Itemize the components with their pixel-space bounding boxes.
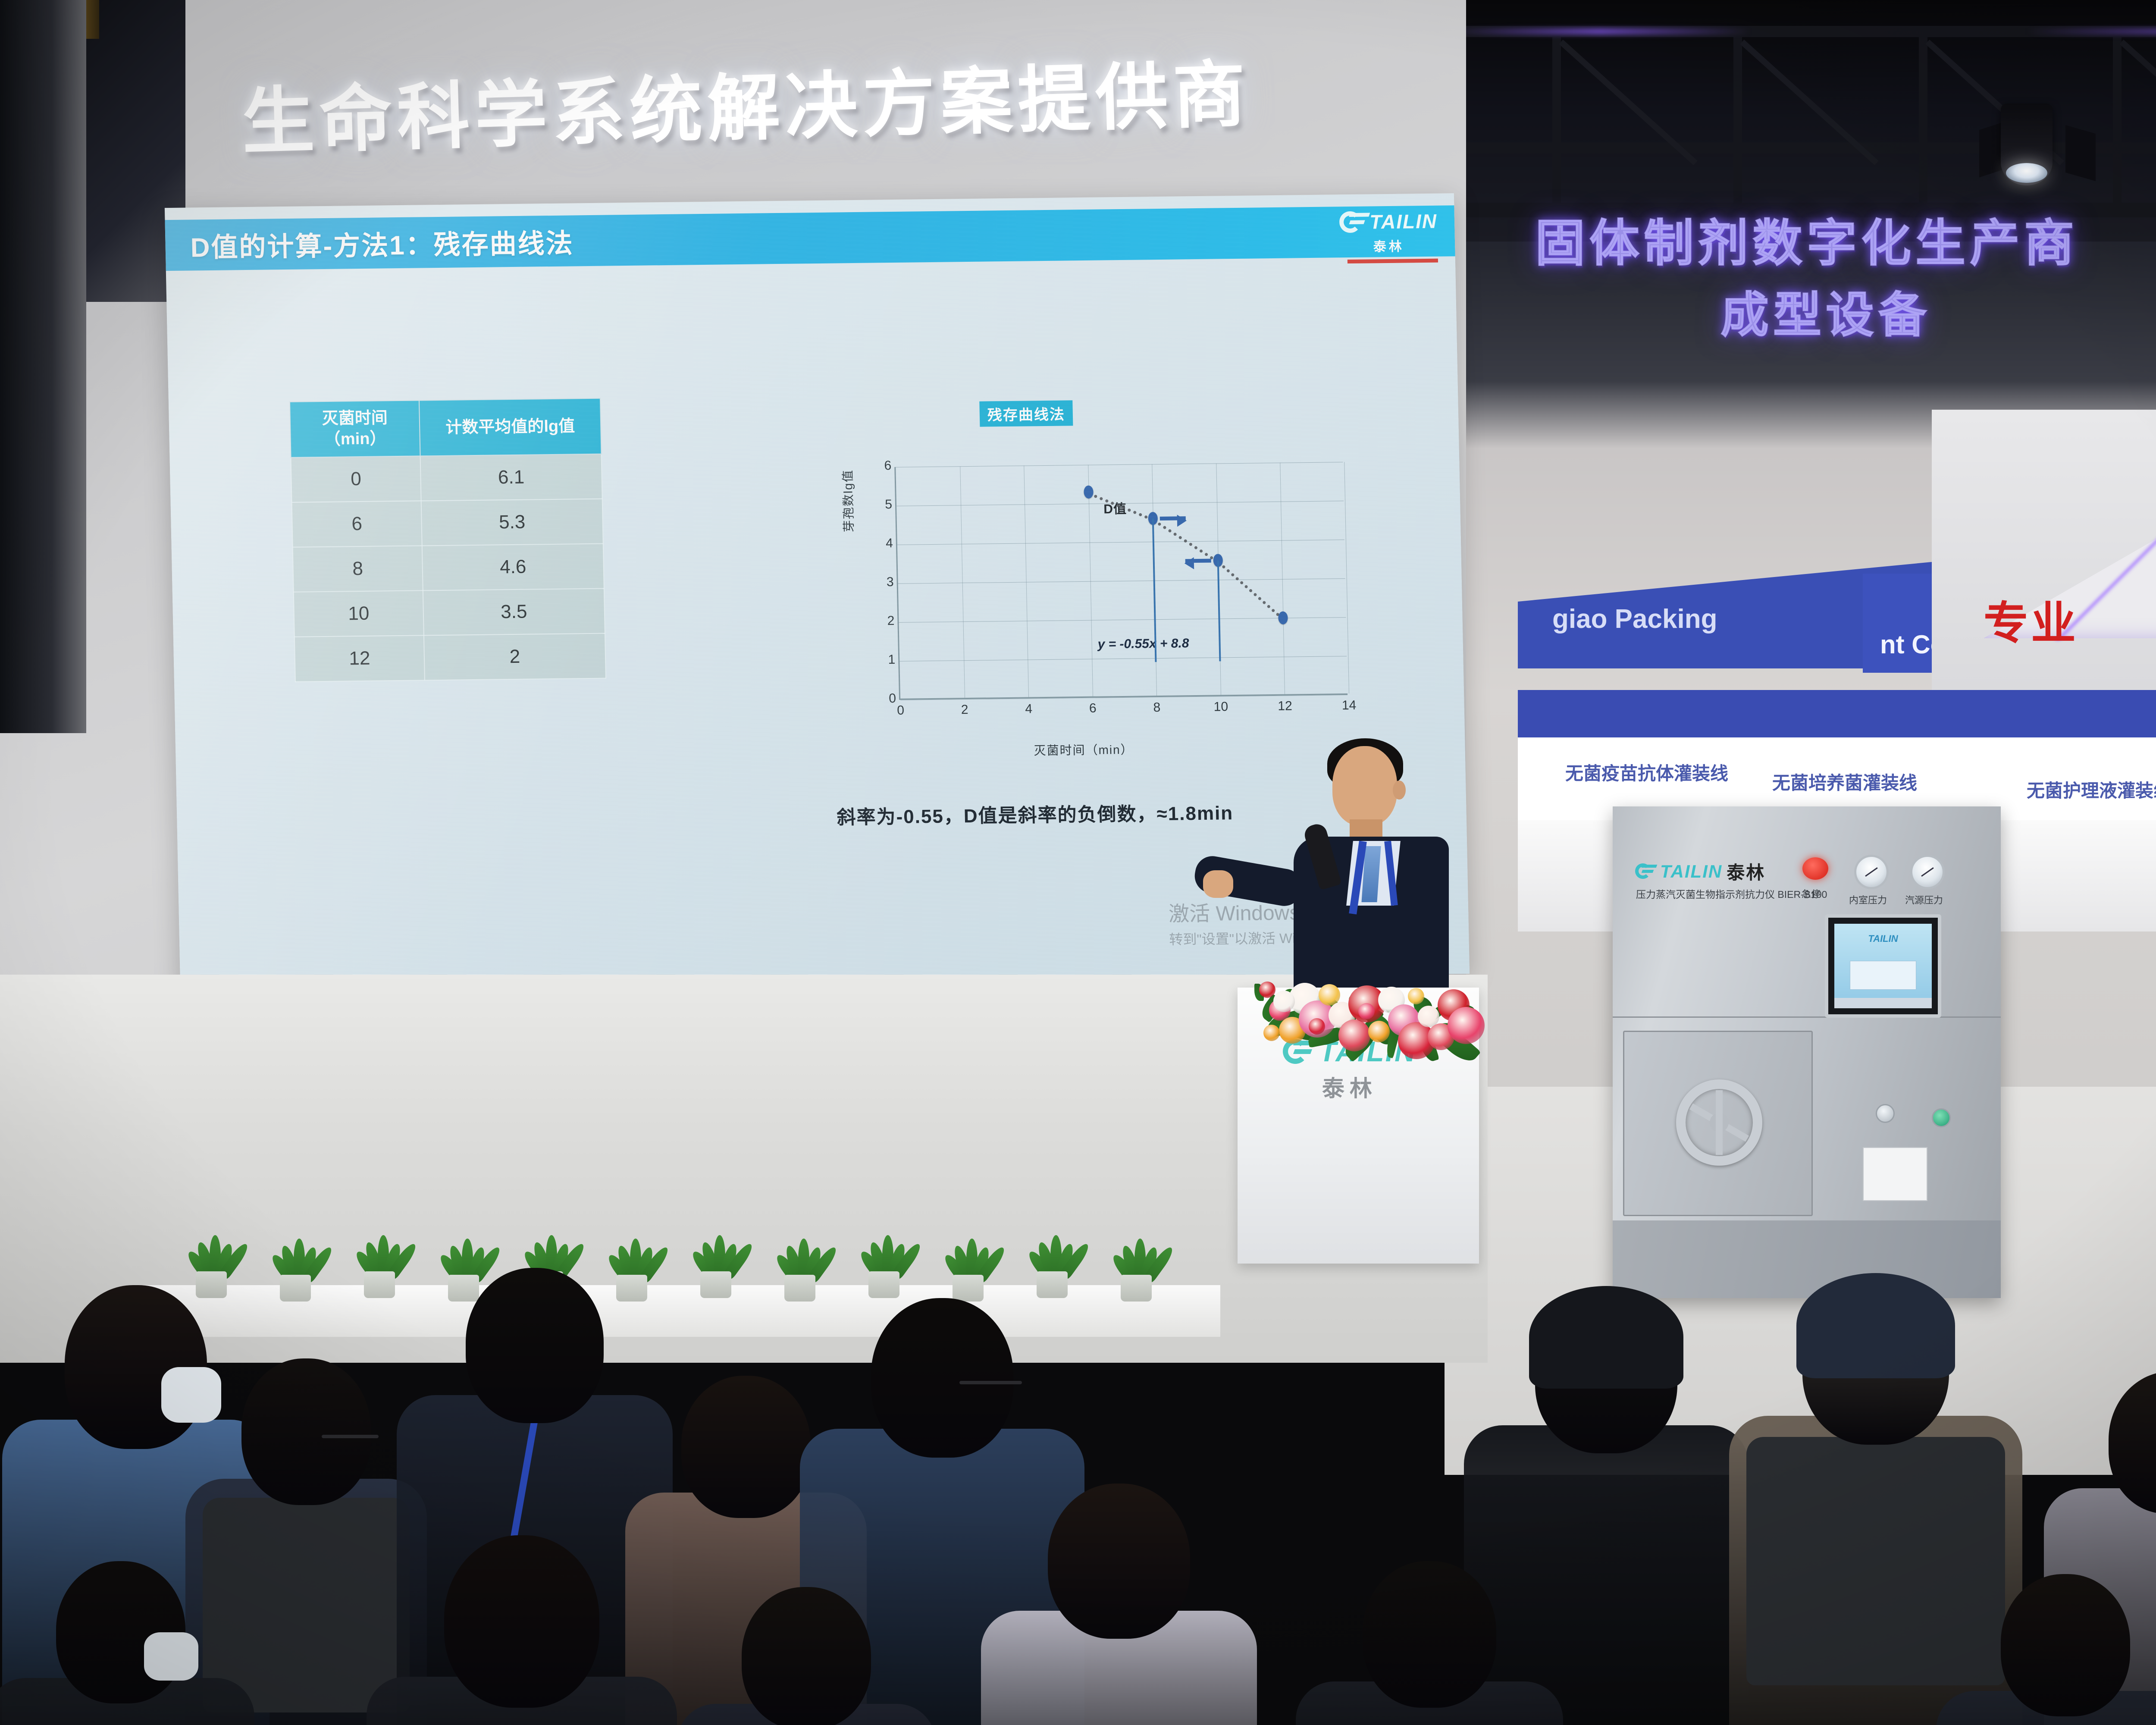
cell-lg-value: 3.5: [423, 589, 605, 636]
purple-light-glow: [1449, 28, 1751, 34]
machine-model-label: 压力蒸汽灭菌生物指示剂抗力仪 BIER-S100: [1636, 886, 1827, 901]
slide-header-bar: D值的计算-方法1：残存曲线法 TAILIN 泰林: [165, 205, 1455, 271]
machine-info-plate: [1863, 1147, 1927, 1201]
presenter-ear: [1393, 781, 1406, 800]
hmi-login-dialog[interactable]: [1850, 961, 1916, 990]
cell-lg-value: 6.1: [420, 454, 602, 501]
chart-gridline-h: [899, 656, 1347, 662]
person-head: [681, 1376, 811, 1518]
machine-brand-chinese: 泰林: [1727, 858, 1765, 884]
chart-x-tick: 10: [1213, 699, 1228, 714]
machine-control-panel: [1613, 806, 2001, 1018]
hmi-touchscreen[interactable]: TAILIN: [1825, 914, 1941, 1018]
flower-bloom: [1448, 1007, 1485, 1044]
chart-y-tick: 2: [874, 614, 895, 629]
chart-x-tick: 12: [1278, 699, 1292, 714]
table-row: 122: [295, 634, 606, 682]
plant-pot: [953, 1275, 984, 1302]
booth-label-culture-line: 无菌培养菌灌装线: [1772, 768, 1917, 795]
truss-post: [1733, 26, 1742, 207]
chart-x-tick: 2: [961, 703, 968, 717]
chart-x-tick: 6: [1089, 701, 1097, 716]
chart-y-tick: 5: [872, 497, 893, 512]
chart-gridline-v: [960, 466, 965, 698]
podium-brand-chinese: 泰林: [1322, 1070, 1377, 1103]
cell-time: 10: [294, 590, 424, 637]
truss-post: [1552, 26, 1561, 207]
potted-plant: [774, 1237, 826, 1302]
table-row: 06.1: [291, 454, 602, 502]
potted-plant: [1110, 1237, 1162, 1302]
face-mask: [161, 1367, 221, 1423]
plant-pot: [1037, 1271, 1068, 1298]
spotlight-barndoor: [2065, 125, 2096, 181]
machine-base: [1613, 1220, 2001, 1298]
slide-title: D值的计算-方法1：残存曲线法: [190, 221, 574, 264]
flower-bloom: [1338, 1019, 1370, 1051]
chart-x-tick: 4: [1025, 702, 1032, 716]
chart-gridline-v: [1344, 462, 1349, 693]
truss-post: [2113, 26, 2122, 207]
hmi-taskbar: [1834, 998, 1932, 1008]
plant-pot: [868, 1271, 899, 1298]
flower-bloom: [1263, 1025, 1280, 1041]
potted-plant: [942, 1237, 994, 1302]
person-head: [871, 1298, 1013, 1458]
red-wall-text: 专业: [1984, 586, 2078, 652]
person-head: [1363, 1561, 1496, 1708]
potted-plant: [1026, 1233, 1078, 1298]
stage-spotlight: [2001, 103, 2053, 185]
tailin-swirl-icon: [1339, 209, 1366, 236]
d-value-arrow-right: [1160, 516, 1186, 521]
person-torso: [1464, 1425, 1749, 1725]
hmi-screen-content: TAILIN: [1834, 924, 1932, 1008]
col-header-time-line2: （min）: [295, 428, 415, 450]
person-head: [1048, 1483, 1190, 1639]
cell-lg-value: 5.3: [421, 499, 603, 546]
emergency-stop-button[interactable]: [1802, 857, 1828, 880]
chart-plot-area: D值 y = -0.55x + 8.8 012345602468101214: [894, 462, 1347, 700]
chart-x-tick: 0: [897, 703, 904, 718]
potted-plant: [606, 1237, 658, 1302]
chart-data-point: [1084, 486, 1094, 499]
machine-brand-logo: TAILIN 泰林: [1635, 858, 1765, 884]
flower-arrangement: [1246, 940, 1470, 1052]
table-header-row: 灭菌时间 （min） 计数平均值的lg值: [290, 398, 602, 458]
right-sign-line-1: 固体制剂数字化生产商: [1535, 203, 2078, 275]
backpack: [1746, 1437, 2005, 1685]
slide-note-text: 斜率为-0.55，D值是斜率的负倒数，≈1.8min: [837, 797, 1234, 829]
baseball-cap: [1529, 1286, 1683, 1389]
cell-lg-value: 4.6: [422, 544, 604, 591]
booth-wall-blue-top: [1518, 690, 2156, 737]
chamber-pressure-gauge: [1854, 855, 1889, 889]
chart-trendline-segment: [1217, 561, 1284, 621]
backpack: [203, 1498, 410, 1712]
baseball-cap: [1796, 1273, 1955, 1378]
spotlight-lens: [2006, 163, 2047, 183]
chart-x-tick: 8: [1153, 700, 1160, 715]
blue-banner-text: giao Packing: [1552, 604, 1717, 634]
truss-post: [1919, 26, 1927, 207]
chart-x-axis-label: 灭菌时间（min）: [1034, 740, 1134, 759]
presenter-head: [1332, 746, 1397, 826]
d-value-arrow-left: [1185, 559, 1211, 563]
potted-plant: [690, 1233, 742, 1298]
chart-gridline-h: [898, 578, 1345, 584]
machine-button-light[interactable]: [1876, 1104, 1895, 1123]
cell-time: 12: [295, 635, 425, 681]
potted-plant: [858, 1233, 910, 1298]
chart-drop-line: [1217, 560, 1221, 661]
cell-time: 6: [292, 501, 422, 547]
machine-button-start[interactable]: [1932, 1108, 1951, 1127]
table-row: 103.5: [294, 589, 605, 637]
chart-gridline-v: [1024, 466, 1029, 697]
face-mask: [144, 1632, 198, 1681]
flower-bloom: [1368, 1021, 1390, 1042]
col-header-lg: 计数平均值的lg值: [419, 398, 602, 456]
cell-time: 0: [291, 456, 421, 502]
left-edge-shadow: [0, 0, 86, 733]
potted-plant: [438, 1237, 489, 1302]
person-head: [241, 1358, 371, 1505]
plant-pot: [280, 1275, 311, 1302]
machine-brand-latin: TAILIN: [1660, 861, 1722, 882]
steam-pressure-label: 汽源压力: [1905, 893, 1943, 906]
brand-latin-text: TAILIN: [1369, 210, 1438, 234]
plant-pot: [1121, 1275, 1152, 1302]
plant-pot: [700, 1271, 731, 1298]
person-head: [2001, 1574, 2130, 1716]
booth-label-care-liquid-line: 无菌护理液灌装线: [2027, 776, 2156, 803]
emergency-stop-label: 急停: [1802, 887, 1821, 900]
chart-y-tick: 3: [874, 575, 894, 590]
chart-gridline-h: [897, 539, 1344, 545]
brand-chinese-text: 泰林: [1373, 236, 1404, 255]
plant-pot: [784, 1275, 815, 1302]
eyeglasses: [959, 1381, 1022, 1384]
right-sign-line-2: 成型设备: [1720, 276, 1931, 346]
table-body: 06.165.384.6103.5122: [291, 454, 606, 682]
presenter-hand: [1203, 870, 1233, 898]
flower-bloom: [1309, 1018, 1325, 1035]
person-head: [742, 1587, 871, 1725]
chart-x-tick: 14: [1342, 698, 1357, 713]
purple-light-glow: [2027, 28, 2156, 34]
survivor-curve-chart: 芽孢数lg值 灭菌时间（min） D值 y = -0.55x + 8.8 012…: [843, 453, 1401, 769]
slide-brand-logo: TAILIN 泰林: [1339, 208, 1438, 256]
potted-plant: [185, 1233, 237, 1298]
booth-label-vaccine-line: 无菌疫苗抗体灌装线: [1565, 759, 1728, 785]
bier-sterilizer-machine: TAILIN 泰林 压力蒸汽灭菌生物指示剂抗力仪 BIER-S100 急停 内室…: [1613, 806, 2001, 1298]
hmi-brand-text: TAILIN: [1868, 933, 1898, 944]
flower-bloom: [1408, 988, 1424, 1004]
steam-pressure-gauge: [1910, 855, 1945, 889]
plant-pot: [364, 1271, 395, 1298]
chart-y-axis-label: 芽孢数lg值: [838, 469, 857, 532]
sterilization-data-table: 灭菌时间 （min） 计数平均值的lg值 06.165.384.6103.512…: [289, 398, 606, 682]
tailin-swirl-icon: [1635, 861, 1656, 882]
potted-plant: [269, 1237, 321, 1302]
chart-y-tick: 0: [876, 691, 896, 706]
right-wall-sign: 固体制剂数字化生产商 成型设备: [1535, 185, 2156, 410]
exhibition-scene: 固体制剂数字化生产商 成型设备 giao Packing nt Co.,Ltd …: [0, 0, 2156, 1725]
chart-data-point: [1279, 612, 1288, 624]
flower-bloom: [1358, 1003, 1375, 1019]
col-header-time-line1: 灭菌时间: [295, 408, 415, 430]
cell-lg-value: 2: [424, 634, 606, 681]
chamber-pressure-label: 内室压力: [1849, 893, 1887, 906]
plant-pot: [196, 1271, 227, 1298]
table-row: 65.3: [292, 499, 603, 547]
chart-gridline-v: [1280, 463, 1285, 694]
plant-pot: [448, 1275, 479, 1302]
chart-y-tick: 1: [875, 652, 896, 668]
brand-logo-row: TAILIN: [1339, 208, 1438, 236]
door-handwheel[interactable]: [1676, 1079, 1762, 1166]
chamber-door[interactable]: [1623, 1031, 1813, 1216]
person-head: [466, 1268, 604, 1423]
potted-plant: [354, 1233, 405, 1298]
chart-y-tick: 6: [871, 458, 892, 474]
col-header-time: 灭菌时间 （min）: [290, 400, 420, 457]
cell-time: 8: [293, 546, 423, 592]
chart-y-tick: 4: [873, 536, 893, 551]
table-row: 84.6: [293, 544, 604, 592]
flower-bloom: [1273, 991, 1295, 1012]
chart-title: 残存曲线法: [979, 400, 1073, 427]
trendline-equation: y = -0.55x + 8.8: [1097, 636, 1189, 652]
chart-gridline-h: [896, 462, 1343, 467]
flower-bloom: [1259, 982, 1275, 998]
person-head: [444, 1535, 599, 1708]
plant-pot: [616, 1275, 647, 1302]
eyeglasses: [322, 1435, 379, 1438]
header-red-underline: [1347, 259, 1438, 263]
chart-gridline-v: [1088, 465, 1093, 696]
